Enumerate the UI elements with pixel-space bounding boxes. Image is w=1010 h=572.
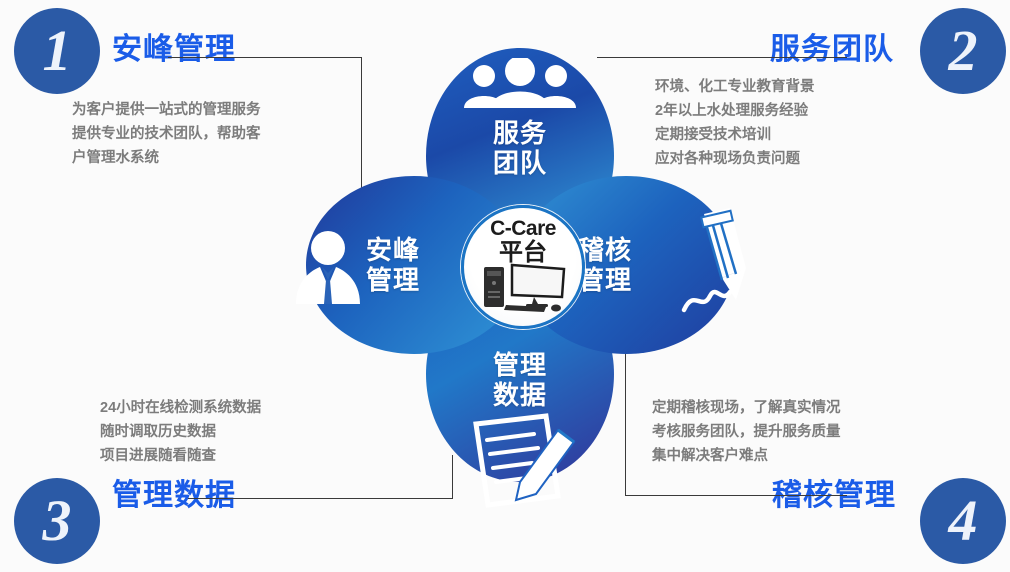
infographic-canvas: 1 2 3 4 安峰管理 服务团队 管理数据 稽核管理 为客户提供一站式的管理服…	[0, 0, 1010, 572]
petal-label-service-team: 服务 团队	[460, 118, 580, 178]
desktop-computer-icon	[480, 263, 566, 313]
section-number-badge-1: 1	[14, 8, 100, 94]
petal-label-management-data: 管理 数据	[460, 350, 580, 410]
section-body-3: 24小时在线检测系统数据 随时调取历史数据 项目进展随看随查	[100, 396, 261, 468]
section-number-label: 4	[949, 492, 978, 550]
body-line: 项目进展随看随查	[100, 444, 261, 468]
body-line: 户管理水系统	[72, 146, 261, 170]
section-number-badge-4: 4	[920, 478, 1006, 564]
body-line: 随时调取历史数据	[100, 420, 261, 444]
section-number-label: 1	[43, 22, 72, 80]
section-number-label: 2	[949, 22, 978, 80]
person-in-suit-icon	[292, 228, 364, 306]
section-body-1: 为客户提供一站式的管理服务 提供专业的技术团队，帮助客 户管理水系统	[72, 98, 261, 170]
section-title-anfeng-management: 安峰管理	[112, 24, 236, 68]
group-of-people-icon	[460, 58, 580, 110]
petal-label-audit-management: 稽核 管理	[578, 235, 668, 295]
section-number-label: 3	[43, 492, 72, 550]
body-line: 提供专业的技术团队，帮助客	[72, 122, 261, 146]
section-title-audit-management: 稽核管理	[772, 470, 896, 514]
section-title-management-data: 管理数据	[112, 470, 236, 514]
body-line: 为客户提供一站式的管理服务	[72, 98, 261, 122]
pencil-writing-icon	[660, 208, 752, 318]
petal-label-anfeng-management: 安峰 管理	[366, 235, 456, 295]
c-care-platform-flower-diagram: 服务 团队 管理 数据 安峰 管理 稽	[248, 10, 788, 530]
section-number-badge-3: 3	[14, 478, 100, 564]
hub-chinese-label: 平台	[499, 242, 547, 264]
center-hub-c-care-platform[interactable]: C-Care 平台	[461, 205, 585, 329]
section-number-badge-2: 2	[920, 8, 1006, 94]
body-line: 24小时在线检测系统数据	[100, 396, 261, 420]
section-title-service-team: 服务团队	[770, 24, 894, 68]
hub-english-label: C-Care	[490, 217, 556, 241]
clipboard-pencil-icon	[462, 408, 582, 512]
